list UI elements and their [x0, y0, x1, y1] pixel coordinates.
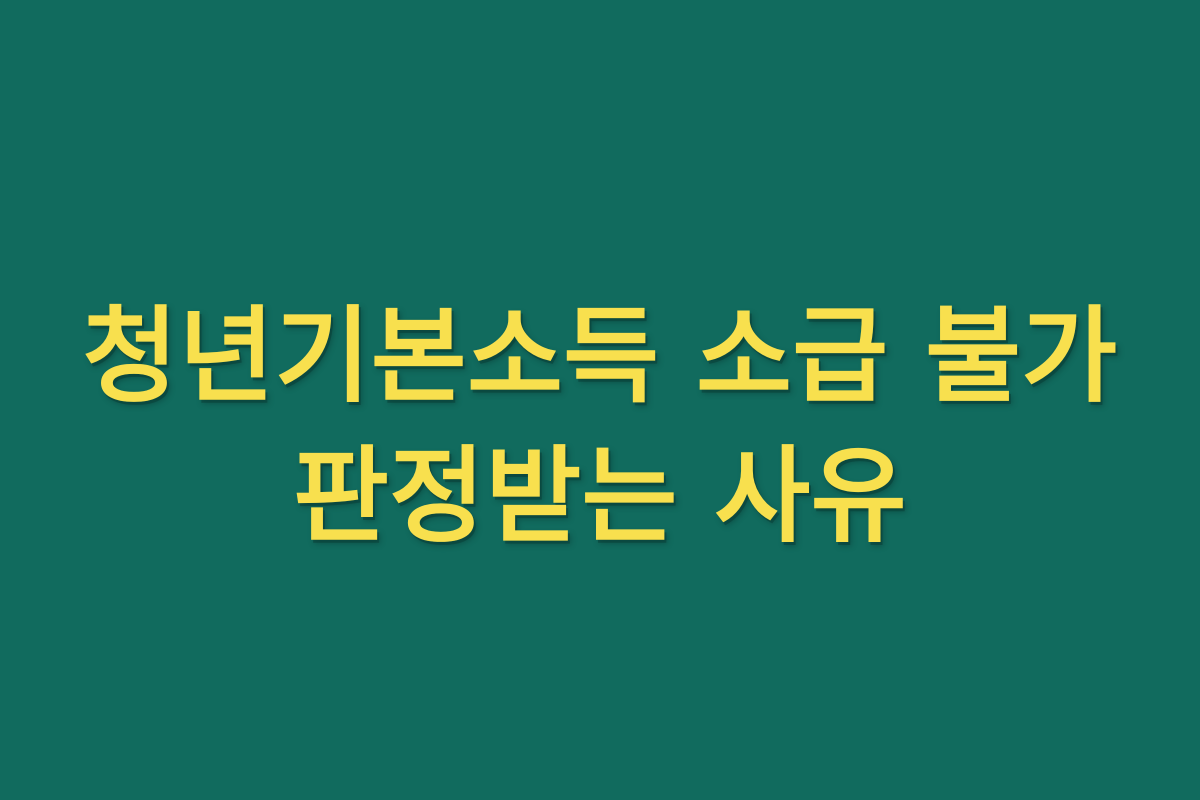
- headline-line-1: 청년기본소득 소급 불가: [24, 286, 1176, 426]
- headline-block: 청년기본소득 소급 불가 판정받는 사유: [0, 286, 1200, 566]
- banner-canvas: 청년기본소득 소급 불가 판정받는 사유: [0, 0, 1200, 800]
- headline-line-2: 판정받는 사유: [24, 426, 1176, 566]
